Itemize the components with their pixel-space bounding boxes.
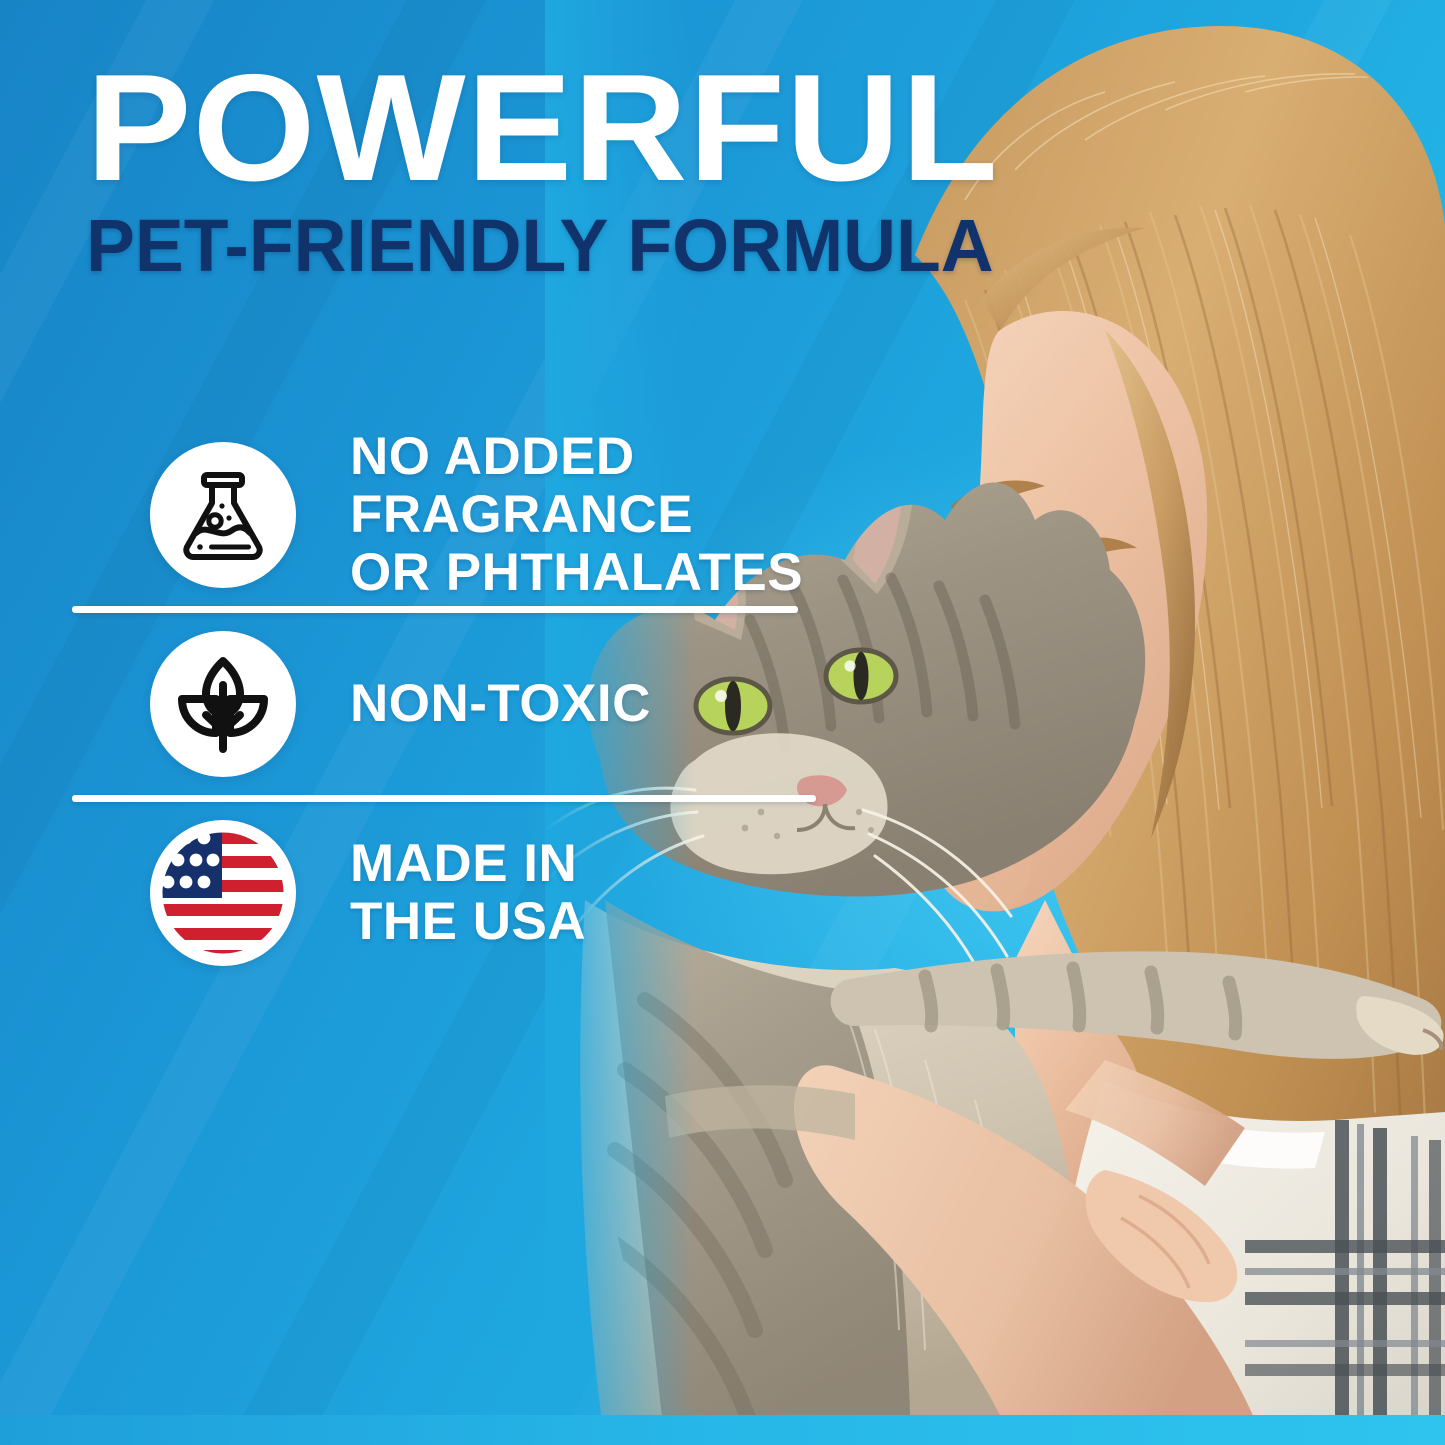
headline-block: POWERFUL PET-FRIENDLY FORMULA bbox=[86, 58, 1206, 283]
feature-divider-2 bbox=[72, 795, 816, 802]
feature-label: MADE IN THE USA bbox=[350, 835, 586, 952]
feature-label: NO ADDED FRAGRANCE OR PHTHALATES bbox=[350, 428, 803, 603]
plant-badge bbox=[150, 631, 296, 777]
usa-flag-icon bbox=[150, 820, 296, 966]
promo-banner: POWERFUL PET-FRIENDLY FORMULA bbox=[0, 0, 1445, 1445]
feature-non-toxic: NON-TOXIC bbox=[72, 613, 912, 795]
feature-no-added-fragrance: NO ADDED FRAGRANCE OR PHTHALATES bbox=[72, 424, 912, 606]
feature-divider-1 bbox=[72, 606, 798, 613]
feature-label: NON-TOXIC bbox=[350, 675, 651, 733]
headline-primary: POWERFUL bbox=[86, 58, 1251, 199]
leaf-plant-icon bbox=[170, 651, 276, 757]
feature-list: NO ADDED FRAGRANCE OR PHTHALATES bbox=[72, 424, 912, 984]
flask-icon bbox=[167, 459, 279, 571]
usa-flag-badge bbox=[150, 820, 296, 966]
feature-made-in-usa: MADE IN THE USA bbox=[72, 802, 912, 984]
headline-secondary: PET-FRIENDLY FORMULA bbox=[86, 209, 1195, 283]
bottom-color-strip bbox=[0, 1415, 1445, 1445]
flask-badge bbox=[150, 442, 296, 588]
